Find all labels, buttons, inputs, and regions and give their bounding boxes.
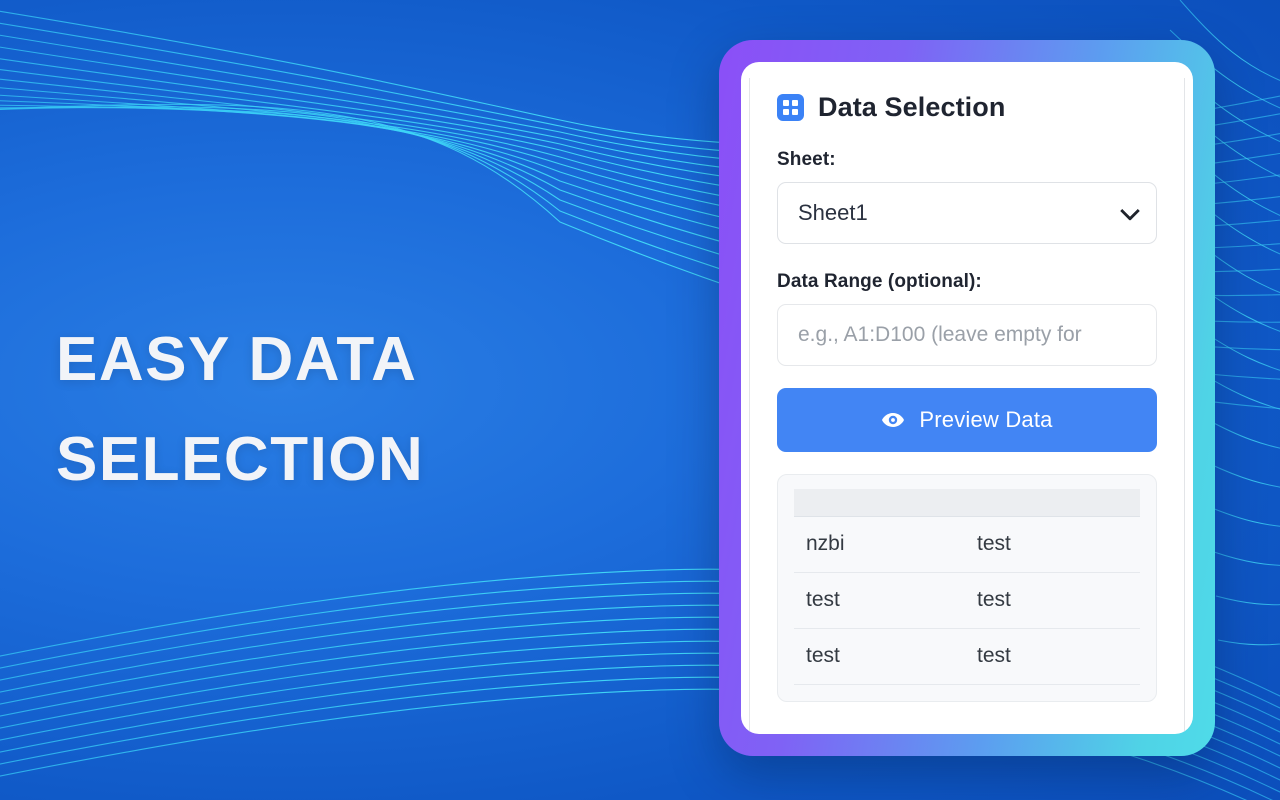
column-header-1 — [794, 489, 967, 516]
table-cell: test — [967, 628, 1140, 684]
table-row: test test — [794, 572, 1140, 628]
column-header-2 — [967, 489, 1140, 516]
panel-header: Data Selection — [777, 92, 1157, 123]
data-range-label: Data Range (optional): — [777, 271, 1157, 293]
table-cell: nzbi — [794, 516, 967, 572]
promo-headline: EASY DATA SELECTION — [56, 310, 656, 511]
sheet-label: Sheet: — [777, 149, 1157, 171]
preview-data-button[interactable]: Preview Data — [777, 388, 1157, 452]
viewport-guide-left — [749, 78, 750, 734]
table-row: test test — [794, 628, 1140, 684]
table-row: nzbi test — [794, 516, 1140, 572]
data-range-placeholder: e.g., A1:D100 (leave empty for — [798, 323, 1082, 347]
grid-icon — [777, 94, 804, 121]
chevron-down-icon — [1120, 201, 1140, 221]
eye-icon — [881, 408, 905, 432]
table-body: nzbi test test test test test — [794, 516, 1140, 684]
data-range-input[interactable]: e.g., A1:D100 (leave empty for — [777, 304, 1157, 366]
page-title: Data Selection — [818, 92, 1005, 123]
table-cell: test — [967, 572, 1140, 628]
gradient-card-frame: Data Selection Sheet: Sheet1 Data Range … — [719, 40, 1215, 756]
table-head — [794, 489, 1140, 516]
table-cell: test — [967, 516, 1140, 572]
data-preview-container: nzbi test test test test test — [777, 474, 1157, 702]
table-header-row — [794, 489, 1140, 516]
sheet-select[interactable]: Sheet1 — [777, 182, 1157, 244]
preview-data-label: Preview Data — [919, 407, 1052, 433]
headline-line-2: SELECTION — [56, 410, 656, 510]
data-selection-panel: Data Selection Sheet: Sheet1 Data Range … — [741, 62, 1193, 734]
headline-line-1: EASY DATA — [56, 310, 656, 410]
table-cell: test — [794, 572, 967, 628]
table-cell: test — [794, 628, 967, 684]
sheet-select-value: Sheet1 — [798, 200, 868, 226]
viewport-guide-right — [1184, 78, 1185, 734]
data-preview-table: nzbi test test test test test — [794, 489, 1140, 685]
